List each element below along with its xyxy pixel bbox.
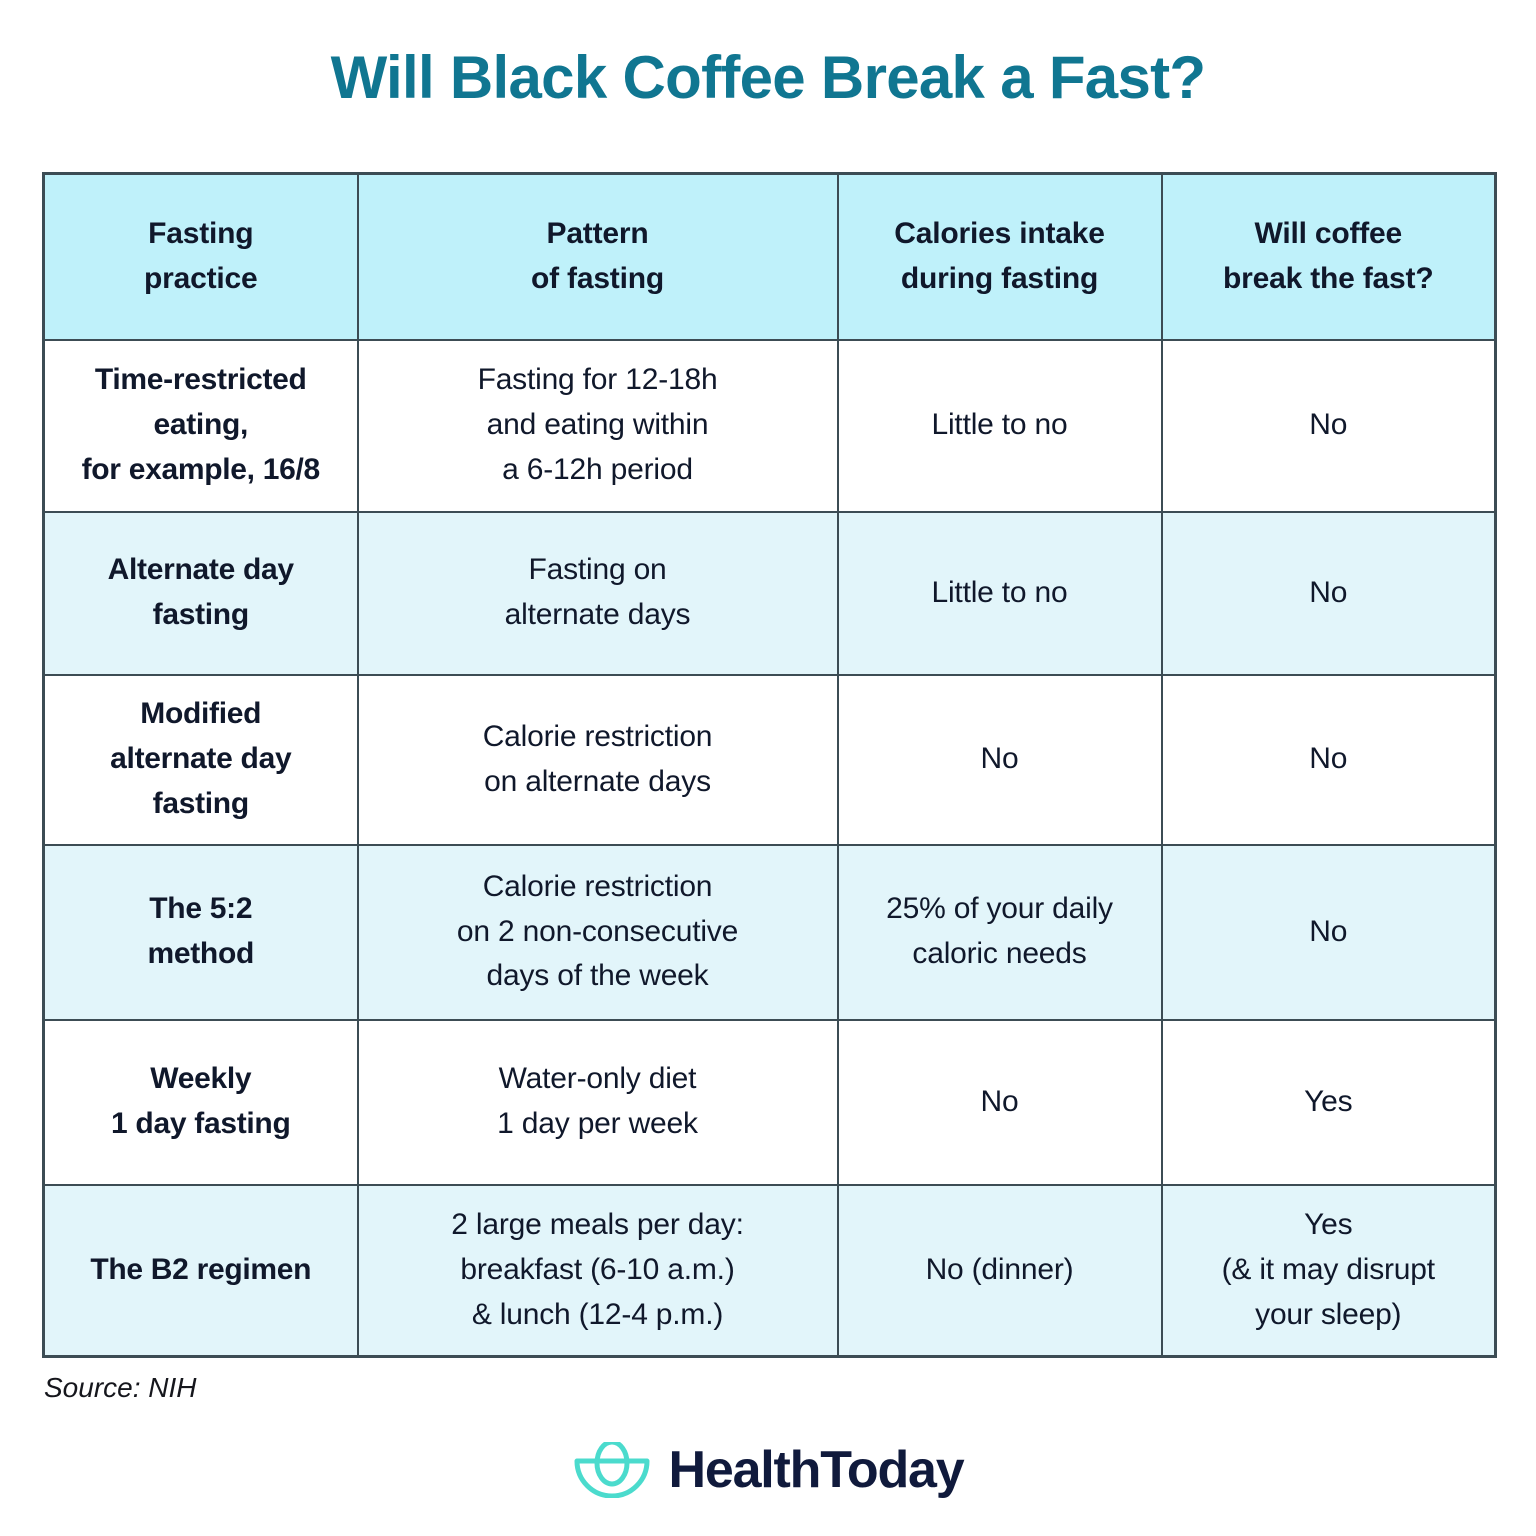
cell-line: breakfast (6-10 a.m.) [369,1248,827,1293]
cell-line: 1 day per week [369,1102,827,1147]
cell-line: Yes [1173,1080,1485,1125]
column-header-calories-intake: Calories intake during fasting [838,174,1162,340]
cell-line: Weekly [55,1057,347,1102]
cell-line: 2 large meals per day: [369,1203,827,1248]
cell-line: Little to no [849,403,1151,448]
cell-pattern-of-fasting: Calorie restriction on alternate days [358,675,838,845]
cell-line: The B2 regimen [55,1248,347,1293]
cell-fasting-practice: The 5:2 method [44,845,358,1020]
cell-line: fasting [55,782,347,827]
cell-line: for example, 16/8 [55,448,347,493]
header-line: practice [55,257,347,301]
cell-fasting-practice: Modified alternate day fasting [44,675,358,845]
table-row: The B2 regimen 2 large meals per day: br… [44,1185,1496,1357]
cell-calories-intake: Little to no [838,512,1162,675]
cell-line: No [1173,403,1485,448]
cell-line: Calorie restriction [369,865,827,910]
cell-line: Fasting for 12-18h [369,358,827,403]
cell-line: a 6-12h period [369,448,827,493]
cell-line: on alternate days [369,760,827,805]
infographic-canvas: Will Black Coffee Break a Fast? Fasting … [0,0,1536,1536]
cell-calories-intake: 25% of your daily caloric needs [838,845,1162,1020]
cell-line: No [1173,910,1485,955]
column-header-pattern-of-fasting: Pattern of fasting [358,174,838,340]
brand-logo: HealthToday [0,1442,1536,1498]
header-line: break the fast? [1173,257,1485,301]
cell-line: caloric needs [849,932,1151,977]
cell-line: Fasting on [369,548,827,593]
cell-line: method [55,932,347,977]
cell-pattern-of-fasting: Fasting for 12-18h and eating within a 6… [358,340,838,512]
cell-pattern-of-fasting: 2 large meals per day: breakfast (6-10 a… [358,1185,838,1357]
cell-calories-intake: No [838,675,1162,845]
cell-line: Yes [1173,1203,1485,1248]
cell-line: alternate days [369,593,827,638]
cell-fasting-practice: Alternate day fasting [44,512,358,675]
cell-calories-intake: No [838,1020,1162,1185]
cell-line: No (dinner) [849,1248,1151,1293]
page-title: Will Black Coffee Break a Fast? [0,46,1536,109]
header-line: Pattern [369,212,827,256]
cell-line: Water-only diet [369,1057,827,1102]
table-row: Alternate day fasting Fasting on alterna… [44,512,1496,675]
cell-line: eating, [55,403,347,448]
cell-line: No [849,1080,1151,1125]
cell-line: Alternate day [55,548,347,593]
cell-line: Time-restricted [55,358,347,403]
cell-line: fasting [55,593,347,638]
cell-line: 25% of your daily [849,887,1151,932]
cell-line: days of the week [369,954,827,999]
cell-line: The 5:2 [55,887,347,932]
table-header: Fasting practice Pattern of fasting Calo… [44,174,1496,340]
cell-breaks-fast: No [1162,675,1496,845]
header-line: Calories intake [849,212,1151,256]
header-line: of fasting [369,257,827,301]
cell-breaks-fast: No [1162,340,1496,512]
table-row: Modified alternate day fasting Calorie r… [44,675,1496,845]
cell-line: on 2 non-consecutive [369,910,827,955]
fasting-comparison-table-wrapper: Fasting practice Pattern of fasting Calo… [42,172,1494,1358]
cell-calories-intake: Little to no [838,340,1162,512]
source-note: Source: NIH [44,1372,197,1404]
table-body: Time-restricted eating, for example, 16/… [44,340,1496,1357]
cell-breaks-fast: No [1162,845,1496,1020]
header-line: Fasting [55,212,347,256]
table-row: Weekly 1 day fasting Water-only diet 1 d… [44,1020,1496,1185]
logo-wordmark: HealthToday [669,1444,964,1496]
cell-fasting-practice: The B2 regimen [44,1185,358,1357]
cell-fasting-practice: Weekly 1 day fasting [44,1020,358,1185]
cell-pattern-of-fasting: Fasting on alternate days [358,512,838,675]
cell-line: 1 day fasting [55,1102,347,1147]
cell-line: No [1173,571,1485,616]
cell-breaks-fast: Yes (& it may disrupt your sleep) [1162,1185,1496,1357]
cell-pattern-of-fasting: Calorie restriction on 2 non-consecutive… [358,845,838,1020]
cell-line: alternate day [55,737,347,782]
cell-fasting-practice: Time-restricted eating, for example, 16/… [44,340,358,512]
cell-breaks-fast: No [1162,512,1496,675]
header-line: Will coffee [1173,212,1485,256]
cell-line: Calorie restriction [369,715,827,760]
cell-pattern-of-fasting: Water-only diet 1 day per week [358,1020,838,1185]
cell-calories-intake: No (dinner) [838,1185,1162,1357]
cell-line: Little to no [849,571,1151,616]
header-line: during fasting [849,257,1151,301]
column-header-fasting-practice: Fasting practice [44,174,358,340]
table-header-row: Fasting practice Pattern of fasting Calo… [44,174,1496,340]
cell-line: Modified [55,692,347,737]
cell-line: (& it may disrupt [1173,1248,1485,1293]
table-row: The 5:2 method Calorie restriction on 2 … [44,845,1496,1020]
fasting-comparison-table: Fasting practice Pattern of fasting Calo… [42,172,1497,1358]
cell-line: and eating within [369,403,827,448]
table-row: Time-restricted eating, for example, 16/… [44,340,1496,512]
cell-line: No [1173,737,1485,782]
cell-breaks-fast: Yes [1162,1020,1496,1185]
lotus-icon [573,1442,651,1498]
column-header-will-coffee-break-fast: Will coffee break the fast? [1162,174,1496,340]
cell-line: No [849,737,1151,782]
cell-line: your sleep) [1173,1293,1485,1338]
cell-line: & lunch (12-4 p.m.) [369,1293,827,1338]
